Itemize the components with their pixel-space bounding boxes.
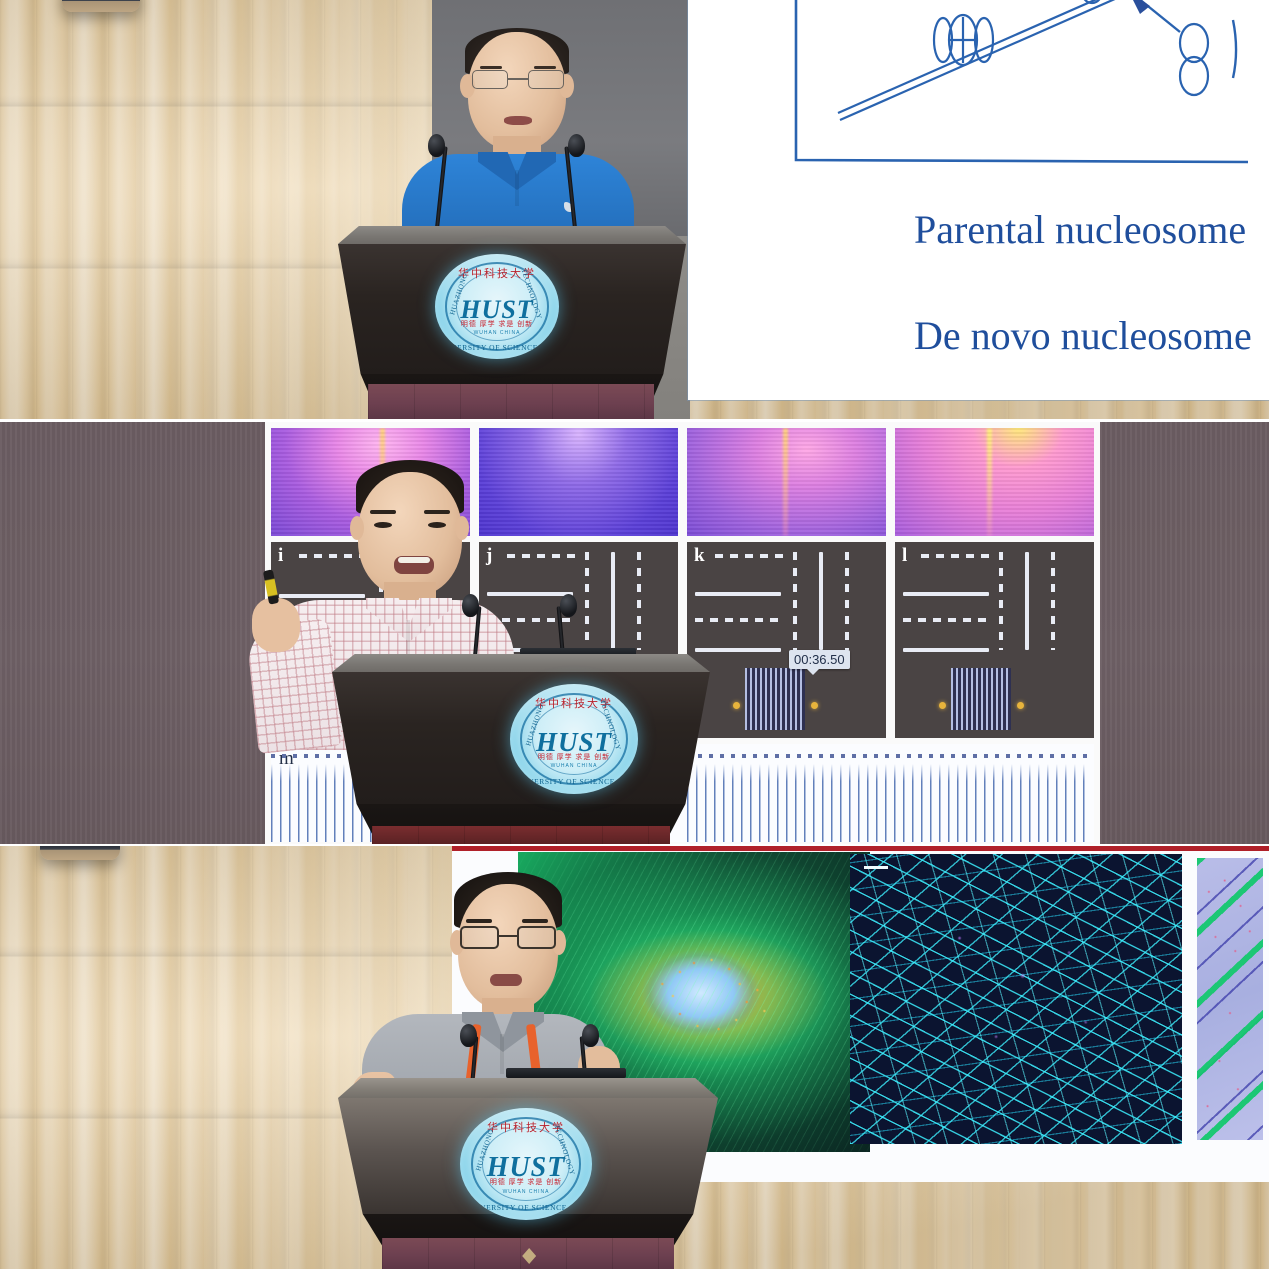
speaker3-eyebrow-right	[522, 919, 548, 923]
speaker-eyebrow-left	[480, 66, 502, 69]
podium-wood-base-bottom	[382, 1238, 674, 1269]
speaker2-ear-right	[455, 516, 469, 540]
panel-middle-speaker-checkered-shirt: i j	[0, 422, 1269, 844]
panel-top-speaker-blue-polo: Parental nucleosome De novo nucleosome	[0, 0, 1269, 419]
photo-collage: Parental nucleosome De novo nucleosome	[0, 0, 1269, 1269]
hust-logo: 华中科技大学 HUST 明德 厚学 求是 创新 WUHAN CHINA UNIV…	[435, 254, 559, 359]
podium-bottom-panel: 华中科技大学 HUST 明德 厚学 求是 创新 WUHAN CHINA UNIV…	[338, 1078, 718, 1248]
speaker2-eyebrow-left	[370, 510, 396, 514]
wall-speaker-icon-bottom	[40, 846, 120, 860]
hust-logo-bottom: 华中科技大学 HUST 明德 厚学 求是 创新 WUHAN CHINA UNIV…	[460, 1108, 592, 1220]
speaker2-eye-left	[374, 522, 392, 528]
speaker3-placket	[500, 1034, 504, 1074]
slide-label-de-novo-nucleosome: De novo nucleosome	[914, 312, 1252, 359]
logo-english-bottom: UNIVERSITY OF SCIENCE AND	[435, 343, 559, 352]
image-cyan-microtubule-network	[850, 854, 1182, 1144]
speaker-mouth	[504, 116, 532, 125]
speaker2-mouth	[394, 556, 434, 574]
heatmap-cell-4	[895, 428, 1094, 536]
speaker-placket	[515, 170, 519, 206]
logo-motto-bottom: 明德 厚学 求是 创新	[460, 1177, 592, 1187]
speaker3-glasses	[460, 926, 556, 950]
logo-city-bottom: WUHAN CHINA	[460, 1189, 592, 1195]
logo-english-bottom-middle: UNIVERSITY OF SCIENCE AND	[510, 777, 638, 786]
speaker3-eyebrow-left	[466, 919, 492, 923]
logo-motto-middle: 明德 厚学 求是 创新	[510, 752, 638, 762]
panel-bottom-speaker-grey-polo: 华中科技大学 HUST 明德 厚学 求是 创新 WUHAN CHINA UNIV…	[0, 846, 1269, 1269]
wall-speaker-icon	[62, 0, 140, 12]
image-em-section-strip	[1197, 858, 1263, 1140]
kymograph-panel-l: l	[895, 542, 1094, 738]
oscillation-trace-right	[687, 744, 1090, 842]
kymograph-panel-k: k 00:36.50	[687, 542, 886, 738]
speaker2-head	[358, 472, 462, 596]
hust-logo-middle: 华中科技大学 HUST 明德 厚学 求是 创新 WUHAN CHINA UNIV…	[510, 684, 638, 794]
logo-city-middle: WUHAN CHINA	[510, 763, 638, 769]
podium-middle-panel: 华中科技大学 HUST 明德 厚学 求是 创新 WUHAN CHINA UNIV…	[332, 654, 710, 844]
heatmap-cell-3	[687, 428, 886, 536]
panel-label-l: l	[902, 545, 907, 567]
slide-label-parental-nucleosome: Parental nucleosome	[914, 206, 1246, 253]
logo-chinese-name-middle: 华中科技大学	[510, 695, 638, 711]
podium-wood-base-top	[368, 384, 654, 419]
logo-english-bottom-bottom: UNIVERSITY OF SCIENCE AND	[460, 1203, 592, 1212]
speaker-eyebrow-right	[534, 66, 556, 69]
speaker-head	[468, 32, 566, 150]
logo-motto: 明德 厚学 求是 创新	[435, 319, 559, 329]
speaker2-ear-left	[350, 516, 364, 540]
scale-bar	[864, 866, 888, 869]
panel-label-k: k	[694, 545, 705, 567]
podium-wood-base-middle	[372, 826, 670, 844]
slide-top-strip	[452, 846, 1269, 851]
speaker2-eye-right	[428, 522, 446, 528]
speaker2-hand-raised	[252, 598, 300, 652]
logo-chinese-name-bottom: 华中科技大学	[460, 1119, 592, 1135]
speaker3-mouth	[490, 974, 522, 986]
slide-nucleosome-diagram: Parental nucleosome De novo nucleosome	[688, 0, 1269, 400]
laptop-icon-bottom	[506, 1068, 626, 1078]
speaker-blue-polo	[392, 12, 642, 252]
podium-emblem	[522, 1248, 536, 1264]
logo-chinese-name: 华中科技大学	[435, 265, 559, 281]
speaker-glasses	[472, 70, 564, 90]
speaker2-eyebrow-right	[424, 510, 450, 514]
logo-city: WUHAN CHINA	[435, 330, 559, 336]
projection-screen-top: Parental nucleosome De novo nucleosome	[688, 0, 1269, 400]
timestamp-tooltip: 00:36.50	[789, 650, 850, 669]
